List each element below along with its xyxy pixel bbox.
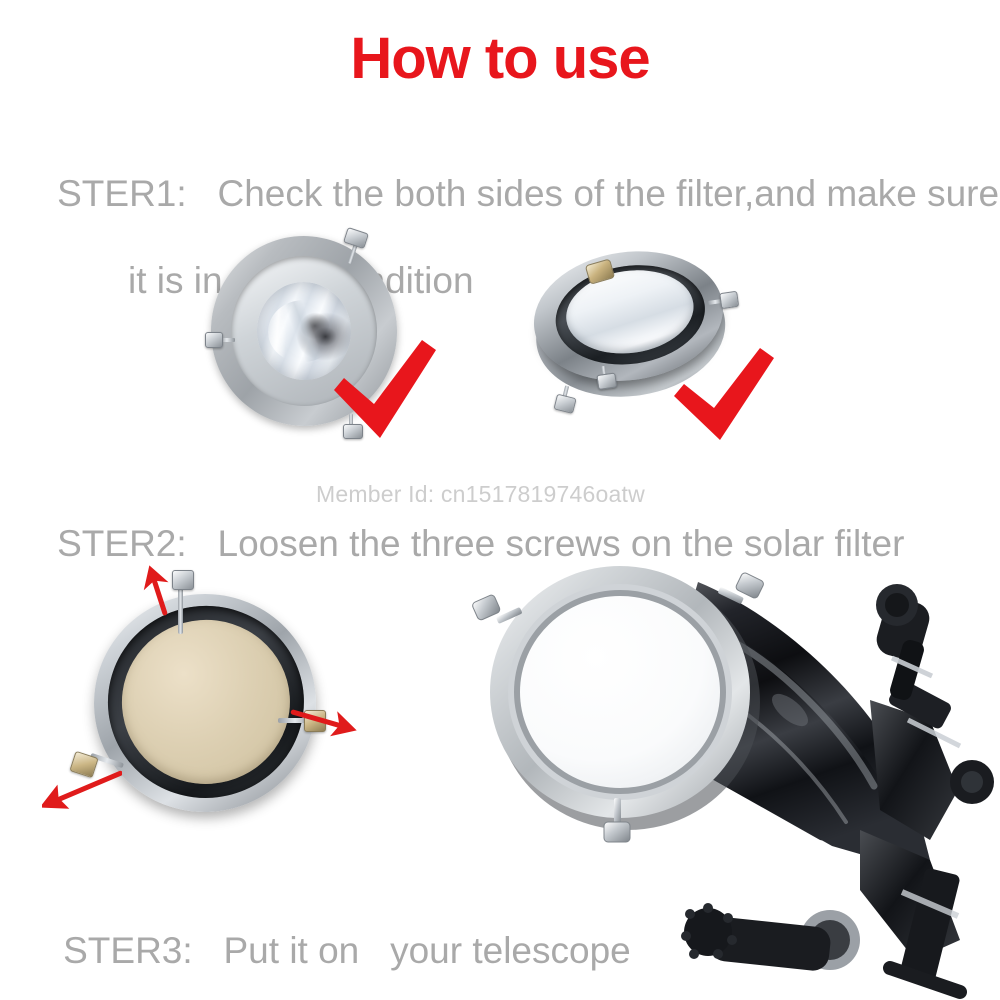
red-arrow-right-icon — [288, 695, 360, 747]
red-arrow-up-icon — [128, 562, 188, 622]
step-1-text: STER1: Check the both sides of the filte… — [16, 128, 999, 390]
step-1-line-1: STER1: Check the both sides of the filte… — [57, 173, 999, 214]
red-check-icon-1 — [330, 338, 440, 442]
step-3-line-1: STER3: Put it on your telescope — [63, 930, 631, 971]
instruction-page: How to use STER1: Check the both sides o… — [0, 0, 1000, 1000]
filter-tan-glass — [116, 614, 295, 789]
page-title: How to use — [0, 30, 1000, 88]
red-arrow-down-left-icon — [42, 748, 122, 828]
step-3-text: STER3: Put it on your telescope and tigh… — [22, 885, 631, 1000]
filter-inner-black-ring — [101, 599, 310, 804]
step-1-line-2: it is in good condition — [16, 259, 999, 303]
red-check-icon-2 — [672, 348, 776, 442]
